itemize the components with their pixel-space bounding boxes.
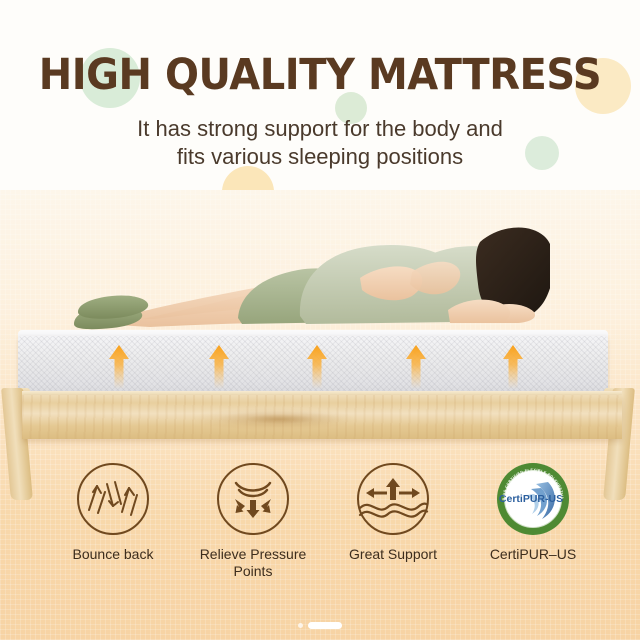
feature-item-relieve-pressure-points[interactable]: Relieve Pressure Points bbox=[173, 462, 333, 580]
support-arrow-icon bbox=[306, 345, 328, 389]
pagination-indicator[interactable] bbox=[0, 618, 640, 632]
bed-frame-rail bbox=[22, 395, 622, 439]
pagination-dot[interactable] bbox=[298, 623, 303, 628]
page-subtitle-line-2: fits various sleeping positions bbox=[0, 143, 640, 171]
certipur-us-badge-icon: CertiPUR-US CERTIPUR-US CERTIFIED FLEXIB… bbox=[496, 462, 570, 536]
page-subtitle-line-1: It has strong support for the body and bbox=[0, 115, 640, 143]
pagination-active-pill[interactable] bbox=[308, 622, 342, 629]
bounce-back-icon bbox=[76, 462, 150, 536]
sleeping-person-illustration bbox=[60, 220, 550, 340]
feature-label-line-2: Points bbox=[234, 563, 273, 579]
support-arrow-icon bbox=[502, 345, 524, 389]
certipur-center-text: CertiPUR-US bbox=[499, 493, 563, 505]
page-title: HIGH QUALITY MATTRESS bbox=[22, 54, 617, 97]
support-arrow-icon bbox=[108, 345, 130, 389]
great-support-icon bbox=[356, 462, 430, 536]
feature-label: CertiPUR–US bbox=[453, 546, 613, 563]
feature-label: Relieve Pressure Points bbox=[173, 546, 333, 580]
support-arrow-icon bbox=[208, 345, 230, 389]
feature-label: Bounce back bbox=[33, 546, 193, 563]
feature-item-great-support[interactable]: Great Support bbox=[313, 462, 473, 563]
page-subtitle: It has strong support for the body and f… bbox=[0, 115, 640, 171]
feature-item-certipur-us[interactable]: CertiPUR-US CERTIPUR-US CERTIFIED FLEXIB… bbox=[453, 462, 613, 563]
support-arrow-icon bbox=[405, 345, 427, 389]
hero-header: HIGH QUALITY MATTRESS It has strong supp… bbox=[0, 0, 640, 200]
feature-label-line-1: Relieve Pressure bbox=[200, 546, 307, 562]
relieve-pressure-points-icon bbox=[216, 462, 290, 536]
feature-label: Great Support bbox=[313, 546, 473, 563]
feature-item-bounce-back[interactable]: Bounce back bbox=[33, 462, 193, 563]
product-detail-image: HIGH QUALITY MATTRESS It has strong supp… bbox=[0, 0, 640, 640]
feature-list: Bounce back Relieve Pressure Points bbox=[0, 462, 640, 597]
